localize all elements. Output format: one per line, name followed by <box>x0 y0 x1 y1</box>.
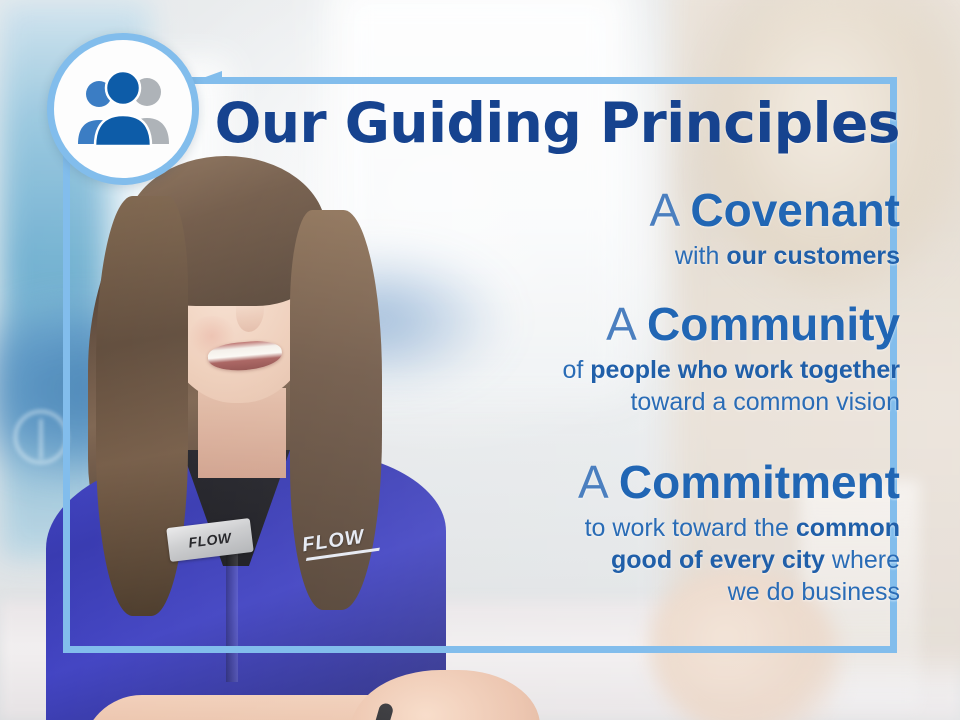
employee-shirt-placket <box>226 552 238 682</box>
blurred-customer-hair <box>710 0 960 290</box>
guiding-principles-graphic: FLOW FLOW Our G <box>0 0 960 720</box>
people-group-icon <box>70 70 176 148</box>
people-badge <box>47 33 199 185</box>
employee-portrait: FLOW FLOW <box>40 150 510 720</box>
name-badge-label: FLOW <box>188 529 233 550</box>
